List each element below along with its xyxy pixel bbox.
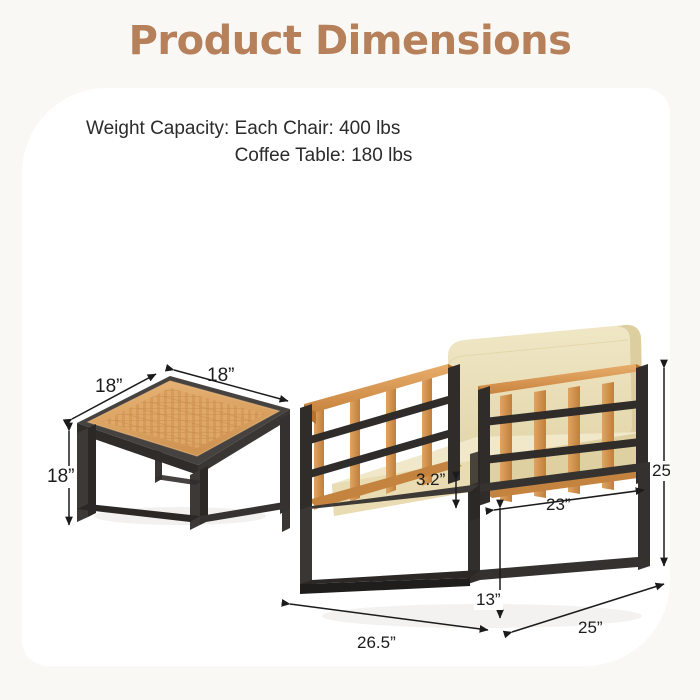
weight-capacity-label: Weight Capacity: (86, 115, 229, 142)
dimension-label-chair-seat-height: 13” (474, 590, 503, 610)
dimension-label-table-depth: 18” (95, 376, 122, 398)
weight-capacity-chair: Each Chair: 400 lbs (235, 115, 413, 142)
weight-capacity-values: Each Chair: 400 lbs Coffee Table: 180 lb… (235, 115, 413, 169)
dimension-label-table-height: 18” (45, 466, 76, 488)
weight-capacity-block: Weight Capacity: Each Chair: 400 lbs Cof… (86, 115, 412, 169)
page-title: Product Dimensions (0, 18, 700, 64)
infographic-canvas: Product Dimensions Weight Capacity: Each… (0, 0, 700, 700)
chair-illustration: 3.2” 23” 25” 13” 26.5” 25” (272, 218, 670, 658)
dimension-label-chair-width: 26.5” (357, 633, 396, 653)
dimension-label-table-width: 18” (207, 365, 234, 387)
dimension-label-chair-depth: 25” (578, 618, 603, 638)
dimension-label-chair-total-height: 25” (650, 461, 670, 481)
content-card: Weight Capacity: Each Chair: 400 lbs Cof… (22, 88, 670, 666)
weight-capacity-table: Coffee Table: 180 lbs (235, 142, 413, 169)
dimension-label-chair-seat-depth: 23” (546, 495, 571, 515)
dimension-label-chair-cushion-thickness: 3.2” (416, 470, 445, 490)
chair-dimension-lines (272, 218, 670, 658)
